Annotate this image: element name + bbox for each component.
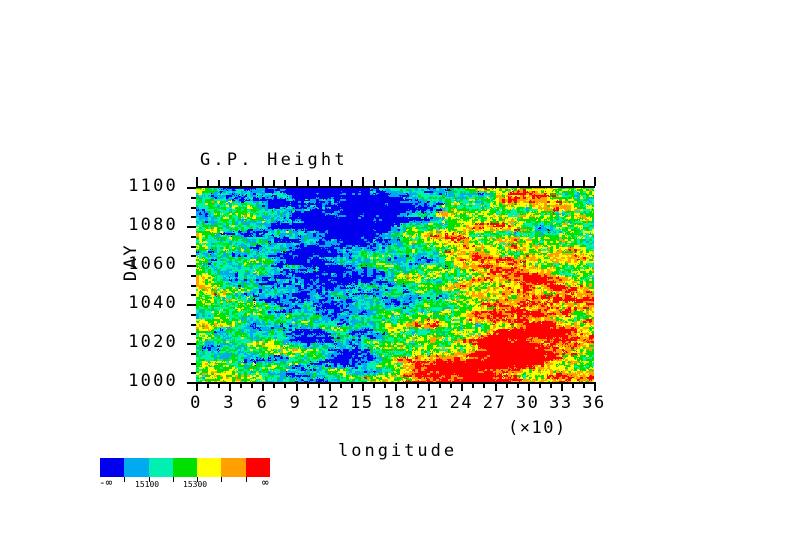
x-tick-major-top xyxy=(229,177,231,186)
x-tick-major-top xyxy=(428,177,430,186)
colorbar-tick xyxy=(246,477,247,482)
y-tick-major xyxy=(187,187,196,189)
x-tick-major xyxy=(428,382,430,391)
y-tick-minor xyxy=(191,324,196,326)
x-tick-minor-top xyxy=(384,180,386,186)
x-tick-label: 36 xyxy=(572,393,616,413)
x-tick-minor-top xyxy=(218,180,220,186)
x-tick-minor xyxy=(439,382,441,388)
colorbar-swatch-4 xyxy=(197,458,221,477)
y-tick-major xyxy=(187,265,196,267)
x-tick-major-top xyxy=(329,177,331,186)
y-tick-major xyxy=(187,382,196,384)
x-tick-minor xyxy=(284,382,286,388)
axis-line-top xyxy=(196,186,595,188)
x-tick-minor xyxy=(218,382,220,388)
y-tick-major xyxy=(187,304,196,306)
colorbar-min-label: -∞ xyxy=(99,476,112,489)
colorbar-midright-label: 15300 xyxy=(183,480,207,489)
x-tick-minor-top xyxy=(373,180,375,186)
page-title: G.P. Height xyxy=(200,150,348,170)
x-tick-minor-top xyxy=(550,180,552,186)
x-tick-minor-top xyxy=(539,180,541,186)
x-tick-minor xyxy=(351,382,353,388)
x-tick-major xyxy=(196,382,198,391)
y-tick-label: 1080 xyxy=(100,215,178,235)
x-tick-major xyxy=(561,382,563,391)
y-tick-minor xyxy=(191,207,196,209)
x-tick-minor xyxy=(539,382,541,388)
colorbar-tick xyxy=(173,477,174,482)
x-tick-major-top xyxy=(395,177,397,186)
x-tick-minor xyxy=(406,382,408,388)
x-tick-minor-top xyxy=(207,180,209,186)
figure-canvas: G.P. Height DAY 110010801060104010201000… xyxy=(0,0,789,558)
x-tick-minor-top xyxy=(351,180,353,186)
x-tick-major xyxy=(461,382,463,391)
colorbar-swatch-6 xyxy=(246,458,270,477)
x-tick-major-top xyxy=(362,177,364,186)
x-tick-minor xyxy=(240,382,242,388)
colorbar-swatch-1 xyxy=(124,458,148,477)
colorbar-tick xyxy=(221,477,222,482)
x-tick-major xyxy=(229,382,231,391)
colorbar-midleft-label: 15100 xyxy=(135,480,159,489)
x-tick-major-top xyxy=(262,177,264,186)
y-tick-label: 1000 xyxy=(100,371,178,391)
x-tick-minor xyxy=(417,382,419,388)
x-tick-minor xyxy=(472,382,474,388)
y-tick-minor xyxy=(191,197,196,199)
x-tick-major-top xyxy=(561,177,563,186)
x-tick-major xyxy=(594,382,596,391)
x-tick-minor-top xyxy=(583,180,585,186)
y-tick-minor xyxy=(191,255,196,257)
x-tick-minor-top xyxy=(318,180,320,186)
y-tick-minor xyxy=(191,285,196,287)
y-tick-major xyxy=(187,343,196,345)
x-tick-minor xyxy=(340,382,342,388)
x-tick-minor xyxy=(506,382,508,388)
x-axis-label: longitude xyxy=(338,441,457,461)
x-tick-minor-top xyxy=(450,180,452,186)
y-tick-minor xyxy=(191,236,196,238)
x-tick-minor-top xyxy=(307,180,309,186)
y-tick-minor xyxy=(191,314,196,316)
colorbar-max-label: ∞ xyxy=(262,476,269,489)
colorbar-swatch-3 xyxy=(173,458,197,477)
y-tick-minor xyxy=(191,353,196,355)
x-axis-multiplier: (×10) xyxy=(508,418,567,438)
x-tick-major-top xyxy=(461,177,463,186)
y-tick-label: 1020 xyxy=(100,332,178,352)
x-tick-minor xyxy=(373,382,375,388)
x-tick-minor-top xyxy=(251,180,253,186)
x-tick-minor-top xyxy=(240,180,242,186)
x-tick-minor-top xyxy=(417,180,419,186)
y-tick-label: 1100 xyxy=(100,176,178,196)
x-tick-major xyxy=(495,382,497,391)
colorbar-swatch-5 xyxy=(221,458,245,477)
x-tick-minor-top xyxy=(340,180,342,186)
x-tick-minor-top xyxy=(506,180,508,186)
x-tick-minor-top xyxy=(284,180,286,186)
y-tick-minor xyxy=(191,363,196,365)
x-tick-major-top xyxy=(196,177,198,186)
colorbar-tick xyxy=(124,477,125,482)
x-tick-minor xyxy=(583,382,585,388)
x-tick-major xyxy=(296,382,298,391)
x-tick-minor xyxy=(273,382,275,388)
x-tick-major xyxy=(528,382,530,391)
x-tick-minor xyxy=(318,382,320,388)
y-tick-minor xyxy=(191,216,196,218)
x-tick-minor-top xyxy=(439,180,441,186)
x-tick-minor xyxy=(384,382,386,388)
x-tick-major xyxy=(362,382,364,391)
y-tick-minor xyxy=(191,372,196,374)
x-tick-minor xyxy=(550,382,552,388)
x-tick-minor xyxy=(207,382,209,388)
x-tick-major-top xyxy=(495,177,497,186)
y-tick-minor xyxy=(191,333,196,335)
y-tick-minor xyxy=(191,275,196,277)
x-tick-minor-top xyxy=(517,180,519,186)
x-tick-minor xyxy=(572,382,574,388)
y-tick-major xyxy=(187,226,196,228)
colorbar-swatch-0 xyxy=(100,458,124,477)
y-tick-label: 1040 xyxy=(100,293,178,313)
y-tick-minor xyxy=(191,246,196,248)
x-tick-minor-top xyxy=(483,180,485,186)
x-tick-minor-top xyxy=(406,180,408,186)
x-tick-major-top xyxy=(296,177,298,186)
x-tick-minor-top xyxy=(572,180,574,186)
colorbar xyxy=(100,458,270,477)
y-tick-label: 1060 xyxy=(100,254,178,274)
x-tick-minor-top xyxy=(273,180,275,186)
x-tick-major-top xyxy=(528,177,530,186)
x-tick-minor xyxy=(251,382,253,388)
x-tick-major xyxy=(262,382,264,391)
heatmap-plot xyxy=(196,187,594,382)
y-tick-minor xyxy=(191,294,196,296)
x-tick-major-top xyxy=(594,177,596,186)
colorbar-swatch-2 xyxy=(149,458,173,477)
x-tick-major xyxy=(395,382,397,391)
x-tick-minor xyxy=(307,382,309,388)
x-tick-minor-top xyxy=(472,180,474,186)
x-tick-minor xyxy=(450,382,452,388)
x-tick-minor xyxy=(517,382,519,388)
x-tick-major xyxy=(329,382,331,391)
x-tick-minor xyxy=(483,382,485,388)
